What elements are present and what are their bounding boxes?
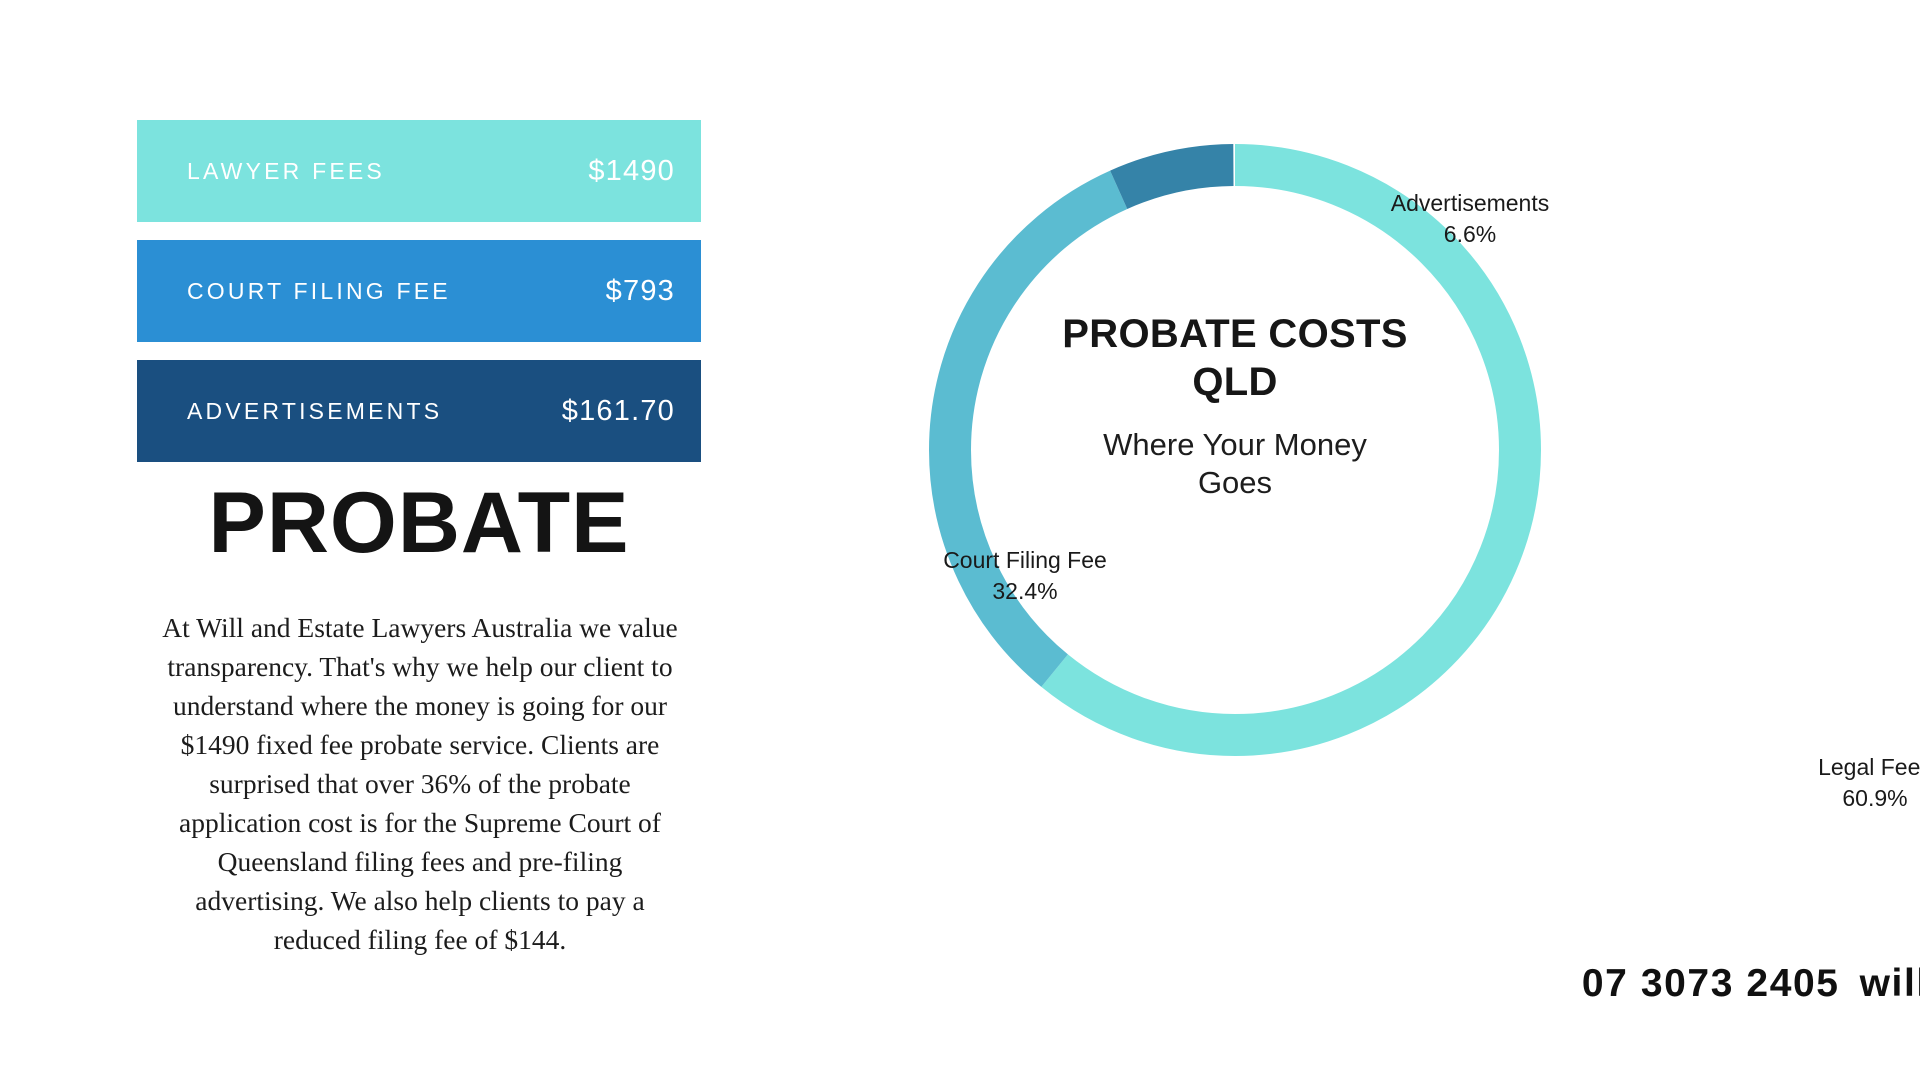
donut-label-court-filing-fee: Court Filing Fee 32.4% [895, 545, 1155, 607]
donut-center-subtitle-line2: Goes [1198, 465, 1272, 500]
donut-label-name: Advertisements [1391, 190, 1550, 216]
donut-chart: PROBATE COSTS QLD Where Your Money Goes … [915, 130, 1555, 770]
donut-label-percent: 6.6% [1340, 219, 1600, 250]
donut-center-title-line1: PROBATE COSTS [1062, 312, 1407, 356]
cost-row-lawyer-fees: LAWYER FEES $1490 [137, 120, 701, 222]
left-panel: LAWYER FEES $1490 COURT FILING FEE $793 … [0, 0, 700, 1080]
cost-row-value: $793 [606, 275, 675, 308]
donut-label-advertisements: Advertisements 6.6% [1340, 188, 1600, 250]
cost-row-label: COURT FILING FEE [187, 278, 451, 305]
donut-label-legal-fees: Legal Fees 60.9% [1760, 752, 1920, 814]
donut-center-text: PROBATE COSTS QLD Where Your Money Goes [1007, 310, 1463, 503]
donut-label-name: Court Filing Fee [943, 547, 1107, 573]
cost-row-court-filing-fee: COURT FILING FEE $793 [137, 240, 701, 342]
cost-row-label: ADVERTISEMENTS [187, 398, 442, 425]
donut-label-name: Legal Fees [1818, 754, 1920, 780]
cost-row-value: $1490 [588, 155, 675, 188]
page-title: PROBATE [137, 480, 701, 566]
website-url[interactable]: willandestatelawyers.com.au [1860, 962, 1920, 1005]
cost-table: LAWYER FEES $1490 COURT FILING FEE $793 … [137, 120, 701, 480]
contact-footer: 07 3073 2405willandestatelawyers.com.au [1400, 962, 1920, 1006]
donut-center-title-line2: QLD [1192, 360, 1277, 404]
donut-label-percent: 60.9% [1760, 783, 1920, 814]
donut-center-subtitle-line1: Where Your Money [1103, 427, 1367, 462]
donut-center-title: PROBATE COSTS QLD [1007, 310, 1463, 406]
cost-row-label: LAWYER FEES [187, 158, 385, 185]
phone-number[interactable]: 07 3073 2405 [1582, 962, 1840, 1005]
donut-label-percent: 32.4% [895, 576, 1155, 607]
cost-row-value: $161.70 [562, 395, 675, 428]
cost-row-advertisements: ADVERTISEMENTS $161.70 [137, 360, 701, 462]
body-paragraph: At Will and Estate Lawyers Australia we … [160, 608, 680, 959]
chart-area: PROBATE COSTS QLD Where Your Money Goes … [700, 0, 1920, 1080]
donut-center-subtitle: Where Your Money Goes [1007, 426, 1463, 503]
